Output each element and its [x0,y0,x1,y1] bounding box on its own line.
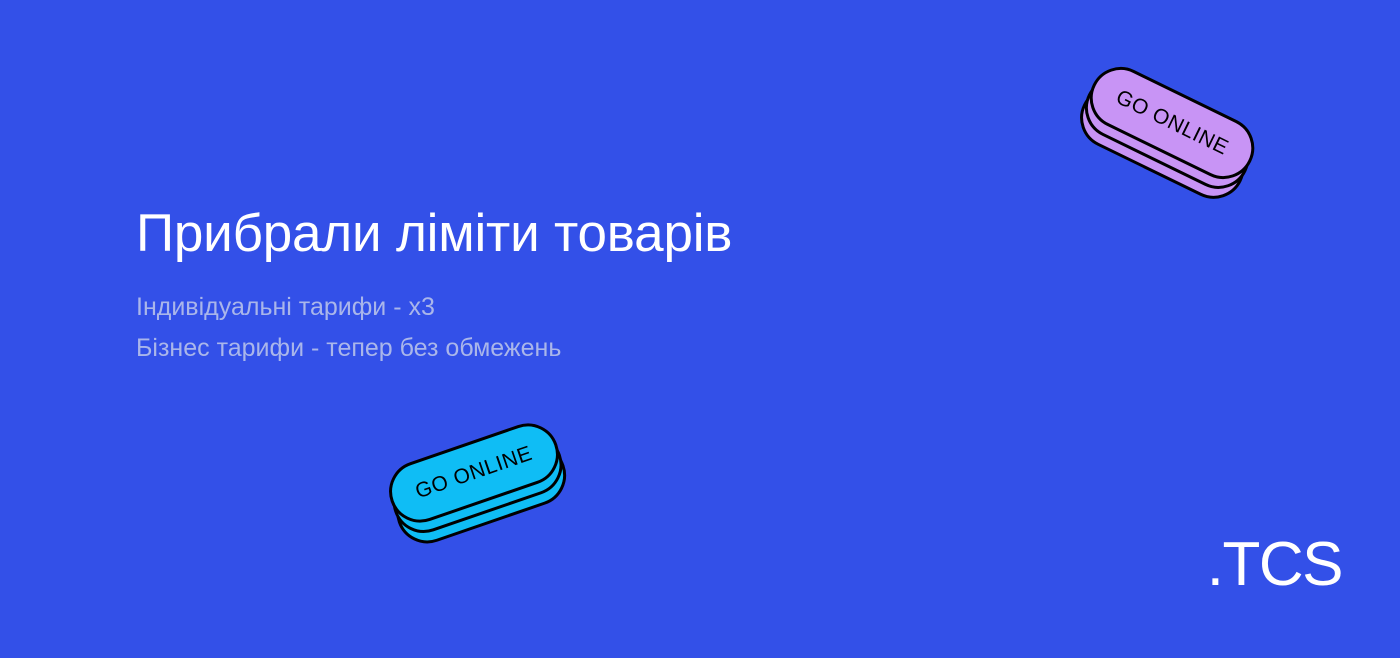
go-online-badge-cyan[interactable]: GO ONLINE [381,415,568,531]
banner-subtitle-line-1: Індивідуальні тарифи - x3 [136,287,732,328]
banner-subtitle-line-2: Бізнес тарифи - тепер без обмежень [136,328,732,369]
go-online-badge-purple[interactable]: GO ONLINE [1079,57,1264,190]
banner-headline: Прибрали ліміти товарів [136,203,732,265]
tcs-logo: .TCS [1207,534,1342,596]
banner-text-block: Прибрали ліміти товарів Індивідуальні та… [136,203,732,369]
banner-subtitle-group: Індивідуальні тарифи - x3 Бізнес тарифи … [136,287,732,369]
promo-banner: Прибрали ліміти товарів Індивідуальні та… [0,0,1400,658]
